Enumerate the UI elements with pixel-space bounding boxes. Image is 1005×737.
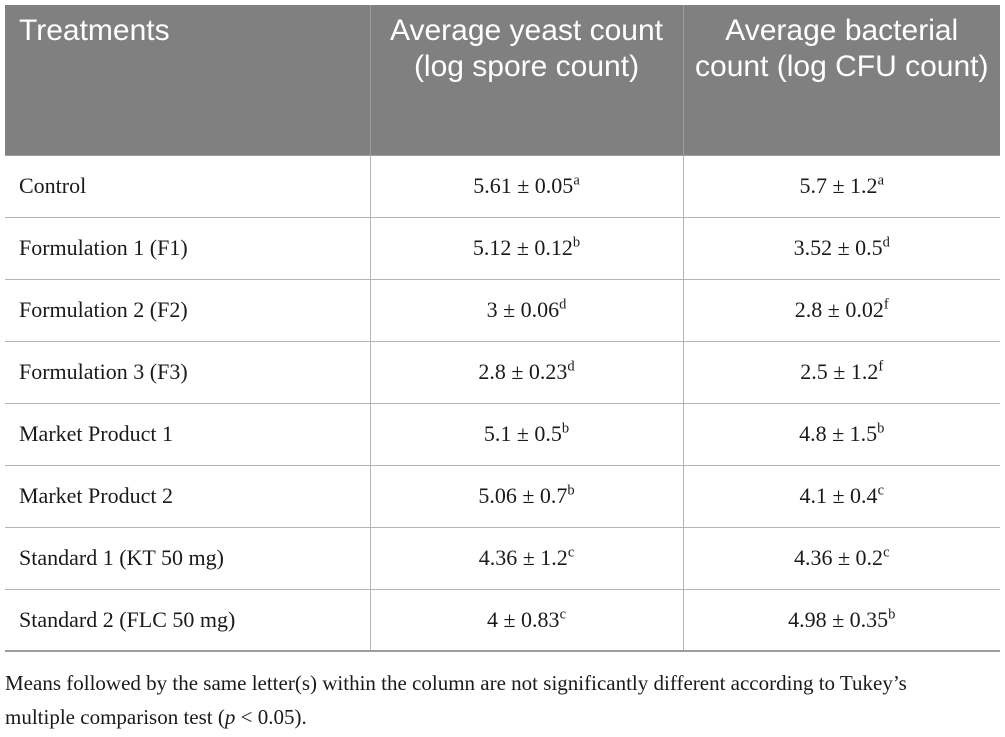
cell-yeast-count: 5.12 ± 0.12b [370, 217, 683, 279]
cell-yeast-count: 3 ± 0.06d [370, 279, 683, 341]
table-row: Control5.61 ± 0.05a5.7 ± 1.2a [5, 155, 1000, 217]
cell-yeast-count: 5.1 ± 0.5b [370, 403, 683, 465]
cell-yeast-count-superscript: d [559, 297, 566, 313]
table-row: Market Product 15.1 ± 0.5b4.8 ± 1.5b [5, 403, 1000, 465]
cell-bacterial-count-value: 4.98 ± 0.35 [788, 607, 888, 632]
cell-bacterial-count: 2.5 ± 1.2f [683, 341, 1000, 403]
column-header-average-yeast-count: Average yeast count (log spore count) [370, 5, 683, 155]
table-page: Treatments Average yeast count (log spor… [0, 0, 1005, 737]
table-row: Formulation 2 (F2)3 ± 0.06d2.8 ± 0.02f [5, 279, 1000, 341]
cell-yeast-count-value: 5.06 ± 0.7 [478, 483, 567, 508]
cell-bacterial-count: 4.36 ± 0.2c [683, 527, 1000, 589]
cell-treatment: Formulation 3 (F3) [5, 341, 370, 403]
cell-bacterial-count-value: 4.8 ± 1.5 [799, 421, 877, 446]
table-body: Control5.61 ± 0.05a5.7 ± 1.2aFormulation… [5, 155, 1000, 651]
cell-yeast-count-value: 5.61 ± 0.05 [473, 173, 573, 198]
cell-yeast-count-superscript: d [567, 359, 574, 375]
cell-bacterial-count-superscript: d [883, 235, 890, 251]
footnote-text-part-2: < 0.05). [235, 705, 306, 729]
column-header-treatments: Treatments [5, 5, 370, 155]
cell-treatment: Control [5, 155, 370, 217]
cell-bacterial-count: 2.8 ± 0.02f [683, 279, 1000, 341]
cell-bacterial-count-superscript: b [888, 606, 895, 622]
footnote-text-part-1: Means followed by the same letter(s) wit… [5, 671, 907, 729]
cell-yeast-count-superscript: a [573, 173, 579, 189]
cell-treatment: Standard 2 (FLC 50 mg) [5, 589, 370, 651]
cell-bacterial-count: 4.8 ± 1.5b [683, 403, 1000, 465]
table-row: Market Product 25.06 ± 0.7b4.1 ± 0.4c [5, 465, 1000, 527]
cell-treatment: Formulation 2 (F2) [5, 279, 370, 341]
cell-yeast-count: 5.06 ± 0.7b [370, 465, 683, 527]
cell-bacterial-count-value: 2.8 ± 0.02 [795, 297, 884, 322]
table-footnote: Means followed by the same letter(s) wit… [5, 652, 970, 734]
cell-bacterial-count-superscript: f [884, 297, 889, 313]
cell-bacterial-count-superscript: f [878, 359, 883, 375]
cell-yeast-count-value: 2.8 ± 0.23 [478, 359, 567, 384]
cell-bacterial-count-value: 4.1 ± 0.4 [799, 483, 877, 508]
cell-bacterial-count-superscript: a [878, 173, 884, 189]
cell-bacterial-count-superscript: c [883, 545, 889, 561]
cell-yeast-count-superscript: b [567, 483, 574, 499]
cell-yeast-count-value: 5.12 ± 0.12 [473, 235, 573, 260]
table-row: Formulation 1 (F1)5.12 ± 0.12b3.52 ± 0.5… [5, 217, 1000, 279]
cell-yeast-count-value: 4.36 ± 1.2 [479, 545, 568, 570]
cell-bacterial-count-value: 3.52 ± 0.5 [794, 235, 883, 260]
cell-yeast-count-superscript: c [568, 545, 574, 561]
table-header: Treatments Average yeast count (log spor… [5, 5, 1000, 155]
cell-bacterial-count-value: 5.7 ± 1.2 [799, 173, 877, 198]
cell-yeast-count: 5.61 ± 0.05a [370, 155, 683, 217]
cell-treatment: Market Product 1 [5, 403, 370, 465]
cell-yeast-count: 2.8 ± 0.23d [370, 341, 683, 403]
cell-treatment: Standard 1 (KT 50 mg) [5, 527, 370, 589]
table-row: Formulation 3 (F3)2.8 ± 0.23d2.5 ± 1.2f [5, 341, 1000, 403]
cell-treatment: Market Product 2 [5, 465, 370, 527]
footnote-p-symbol: p [225, 705, 236, 729]
cell-bacterial-count: 3.52 ± 0.5d [683, 217, 1000, 279]
cell-bacterial-count: 5.7 ± 1.2a [683, 155, 1000, 217]
cell-bacterial-count-superscript: c [878, 483, 884, 499]
cell-yeast-count: 4 ± 0.83c [370, 589, 683, 651]
cell-yeast-count-superscript: b [573, 235, 580, 251]
cell-yeast-count-value: 5.1 ± 0.5 [484, 421, 562, 446]
cell-bacterial-count: 4.98 ± 0.35b [683, 589, 1000, 651]
cell-bacterial-count-value: 2.5 ± 1.2 [800, 359, 878, 384]
table-row: Standard 1 (KT 50 mg)4.36 ± 1.2c4.36 ± 0… [5, 527, 1000, 589]
cell-yeast-count: 4.36 ± 1.2c [370, 527, 683, 589]
cell-yeast-count-superscript: b [562, 421, 569, 437]
column-header-average-bacterial-count: Average bacterial count (log CFU count) [683, 5, 1000, 155]
results-table: Treatments Average yeast count (log spor… [5, 5, 1000, 652]
cell-yeast-count-value: 4 ± 0.83 [487, 607, 560, 632]
cell-bacterial-count: 4.1 ± 0.4c [683, 465, 1000, 527]
cell-yeast-count-superscript: c [560, 606, 566, 622]
cell-bacterial-count-superscript: b [877, 421, 884, 437]
cell-treatment: Formulation 1 (F1) [5, 217, 370, 279]
cell-yeast-count-value: 3 ± 0.06 [487, 297, 560, 322]
table-row: Standard 2 (FLC 50 mg)4 ± 0.83c4.98 ± 0.… [5, 589, 1000, 651]
header-row: Treatments Average yeast count (log spor… [5, 5, 1000, 155]
cell-bacterial-count-value: 4.36 ± 0.2 [794, 545, 883, 570]
